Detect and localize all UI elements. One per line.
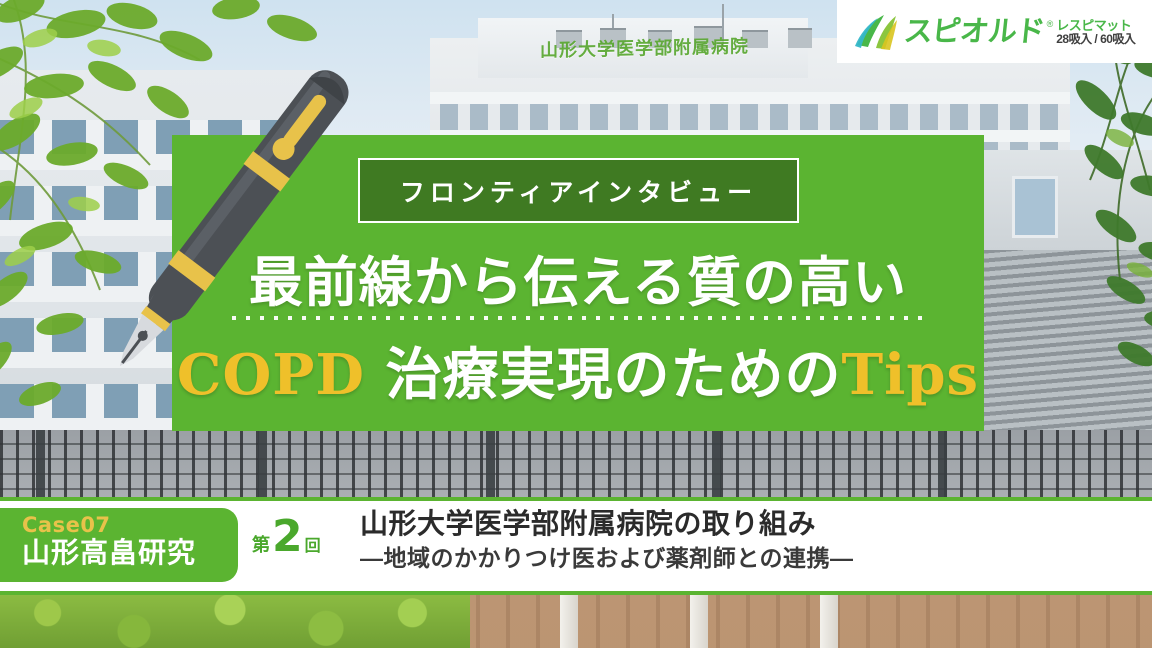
case-number: Case07 (22, 514, 238, 536)
banner-canvas: 山形大学医学部附属病院 (0, 0, 1152, 648)
case-tag: Case07 山形高畠研究 (0, 508, 238, 582)
episode-number-group: 第 2 回 (252, 515, 321, 559)
registered-mark: ® (1047, 19, 1054, 29)
kicker-badge: フロンティアインタビュー (358, 158, 799, 223)
dotted-divider (232, 316, 932, 320)
episode-suffix: 回 (305, 539, 321, 555)
rooftop-hospital-sign: 山形大学医学部附属病院 (540, 31, 780, 62)
headline-line-1: 最前線から伝える質の高い (172, 238, 984, 317)
logo-wordmark: スピオルド ® レスピマット 28吸入 / 60吸入 (904, 17, 1136, 46)
footer-subtitle: ―地域のかかりつけ医および薬剤師との連携― (360, 544, 1120, 574)
rooftop-ac-unit (788, 28, 812, 48)
kicker-label: フロンティアインタビュー (400, 173, 757, 209)
product-logo: スピオルド ® レスピマット 28吸入 / 60吸入 (837, 0, 1152, 63)
brand-name: スピオルド (902, 17, 1045, 46)
louvre-facade (980, 250, 1152, 440)
footer-title: 山形大学医学部附属病院の取り組み (360, 506, 1120, 542)
window (1012, 176, 1058, 238)
headline-copd: COPD (177, 342, 365, 408)
episode-prefix: 第 (252, 536, 270, 554)
window-row (440, 104, 1060, 130)
hedge-shrubs (0, 588, 470, 648)
headline-tips: Tips (841, 342, 979, 408)
right-building-wall (980, 150, 1152, 250)
device-info: レスピマット 28吸入 / 60吸入 (1056, 19, 1135, 45)
headline-line-2: COPD 治療実現のためのTips (172, 330, 984, 411)
device-name: レスピマット (1056, 19, 1135, 33)
case-name: 山形高畠研究 (22, 537, 238, 569)
episode-number: 2 (272, 515, 303, 559)
dose-count: 28吸入 / 60吸入 (1056, 33, 1135, 46)
leaf-swoosh-logo-icon (854, 12, 898, 52)
footer-texts: 山形大学医学部附属病院の取り組み ―地域のかかりつけ医および薬剤師との連携― (360, 506, 1120, 574)
facade-band (430, 92, 1070, 104)
headline-middle: 治療実現のための (385, 342, 841, 408)
